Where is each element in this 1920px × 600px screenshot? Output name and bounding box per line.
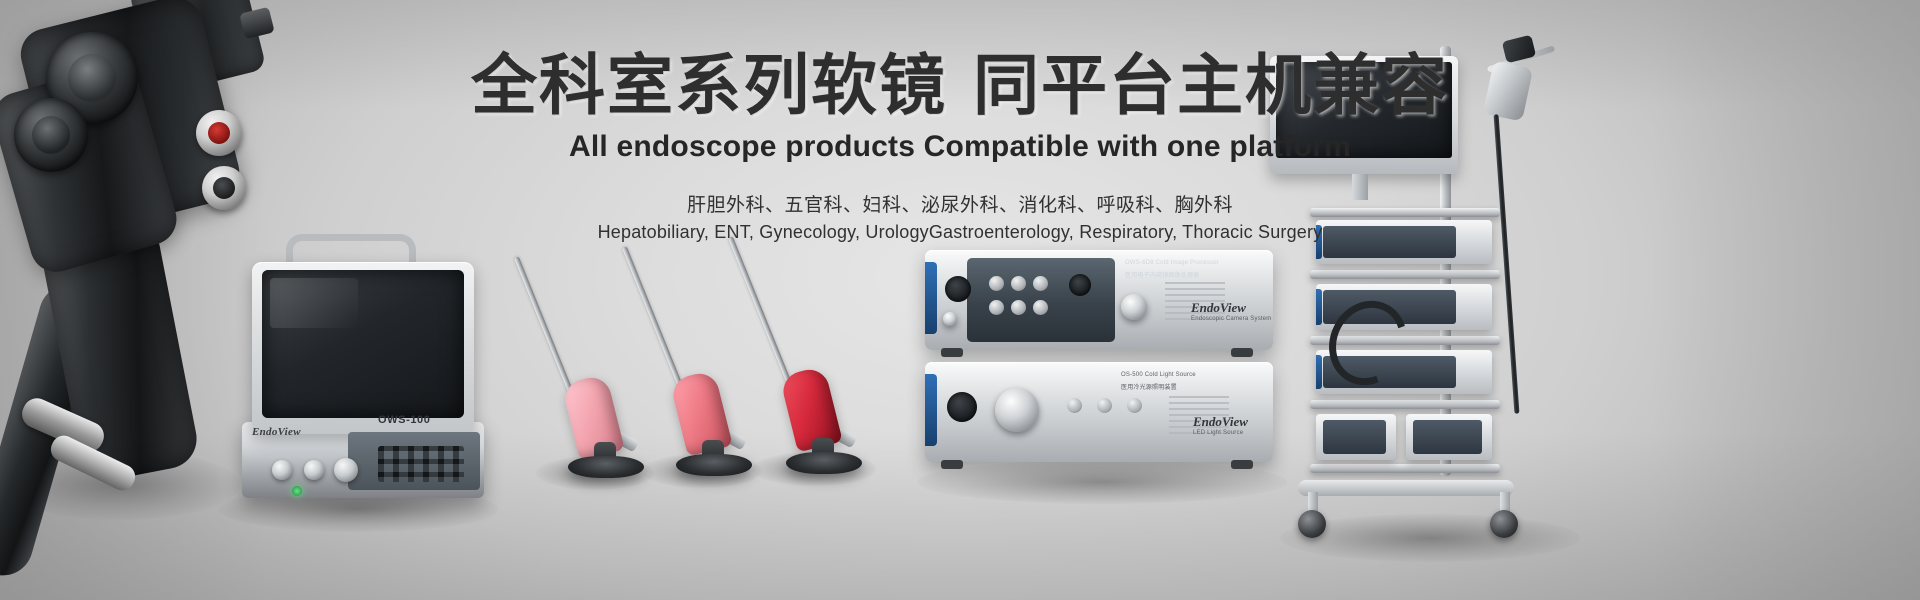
headline-part-1: 全科室系列软镜 — [471, 48, 947, 122]
subheadline-english: All endoscope products Compatible with o… — [0, 130, 1920, 164]
console-button-6 — [1033, 300, 1048, 315]
console-video-port — [945, 276, 971, 302]
console-light-source: OS-500 Cold Light Source 医用冷光源照明装置 EndoV… — [925, 362, 1273, 462]
console-accent-stripe — [925, 262, 937, 334]
console-sub-label: LED Light Source — [1193, 430, 1243, 436]
cart-device-5 — [1406, 414, 1492, 460]
instrument-shaft — [514, 256, 575, 397]
console-button-1 — [989, 276, 1004, 291]
console-connector — [1069, 274, 1091, 296]
marketing-banner: EndoView OWS-100 — [0, 0, 1920, 600]
console-button-2 — [1011, 276, 1026, 291]
workstation-model-label: OWS-100 — [378, 414, 431, 426]
console-stack-image: OWS-6D8 Cold Image Processor 医用电子内窥镜图像处理… — [925, 250, 1275, 480]
workstation-knob-2 — [304, 460, 324, 480]
cart-device-panel — [1413, 420, 1482, 454]
console-button-3 — [1127, 398, 1142, 413]
instrument-stand-base — [786, 452, 862, 474]
cart-shelf-4 — [1310, 400, 1500, 409]
instrument-shaft — [622, 246, 685, 393]
cart-device-4 — [1316, 414, 1396, 460]
console-button-2 — [1097, 398, 1112, 413]
workstation-brand-label: EndoView — [252, 426, 301, 438]
console-button-3 — [1033, 276, 1048, 291]
cart-wheel-right — [1490, 510, 1518, 538]
console-brightness-dial — [995, 388, 1039, 432]
console-button-4 — [989, 300, 1004, 315]
instrument-shaft — [728, 236, 793, 388]
instrument-handle — [779, 366, 843, 453]
endoscope-port — [239, 7, 274, 39]
console-front-face: OWS-6D8 Cold Image Processor 医用电子内窥镜图像处理… — [925, 250, 1273, 350]
console-main-dial — [1121, 294, 1147, 320]
console-foot-right — [1231, 348, 1253, 357]
cart-shelf-2 — [1310, 270, 1500, 279]
workstation-knob-1 — [272, 460, 292, 480]
console-brand-label: EndoView — [1193, 414, 1248, 430]
cart-shelf-5 — [1310, 464, 1500, 473]
workstation-power-indicator — [292, 486, 302, 496]
console-sub-label: Endoscopic Camera System — [1191, 316, 1272, 322]
console-brand-label: EndoView — [1191, 300, 1246, 316]
console-foot-right — [1231, 460, 1253, 469]
console-button-5 — [1011, 300, 1026, 315]
workstation-display-screen — [262, 270, 464, 418]
console-title-en: OS-500 Cold Light Source — [1121, 372, 1196, 378]
console-foot-left — [941, 348, 963, 357]
cart-device-accent — [1316, 355, 1322, 389]
headline: 全科室系列软镜同平台主机兼容 — [0, 48, 1920, 124]
workstation-knob-3 — [334, 458, 358, 482]
console-button-1 — [1067, 398, 1082, 413]
laparoscopic-instrument-red — [726, 238, 886, 488]
console-title-cn: 医用电子内窥镜图像处理器 — [1125, 270, 1199, 279]
cart-base-frame — [1298, 480, 1514, 496]
console-title-en: OWS-6D8 Cold Image Processor — [1125, 260, 1219, 266]
banner-text-block: 全科室系列软镜同平台主机兼容 All endoscope products Co… — [0, 48, 1920, 243]
workstation-keypad — [378, 446, 464, 482]
console-foot-left — [941, 460, 963, 469]
console-front-face: OS-500 Cold Light Source 医用冷光源照明装置 EndoV… — [925, 362, 1273, 462]
cart-wheel-left — [1298, 510, 1326, 538]
console-image-processor: OWS-6D8 Cold Image Processor 医用电子内窥镜图像处理… — [925, 250, 1273, 350]
console-small-dial — [943, 312, 957, 326]
specialties-english: Hepatobiliary, ENT, Gynecology, UrologyG… — [0, 222, 1920, 243]
console-title-cn: 医用冷光源照明装置 — [1121, 382, 1177, 391]
headline-part-2: 同平台主机兼容 — [973, 48, 1449, 122]
workstation-image: EndoView OWS-100 — [228, 236, 478, 496]
cart-device-panel — [1323, 420, 1386, 454]
specialties-chinese: 肝胆外科、五官科、妇科、泌尿外科、消化科、呼吸科、胸外科 — [0, 190, 1920, 217]
console-accent-stripe — [925, 374, 937, 446]
cart-device-accent — [1316, 289, 1322, 325]
console-light-port — [947, 392, 977, 422]
